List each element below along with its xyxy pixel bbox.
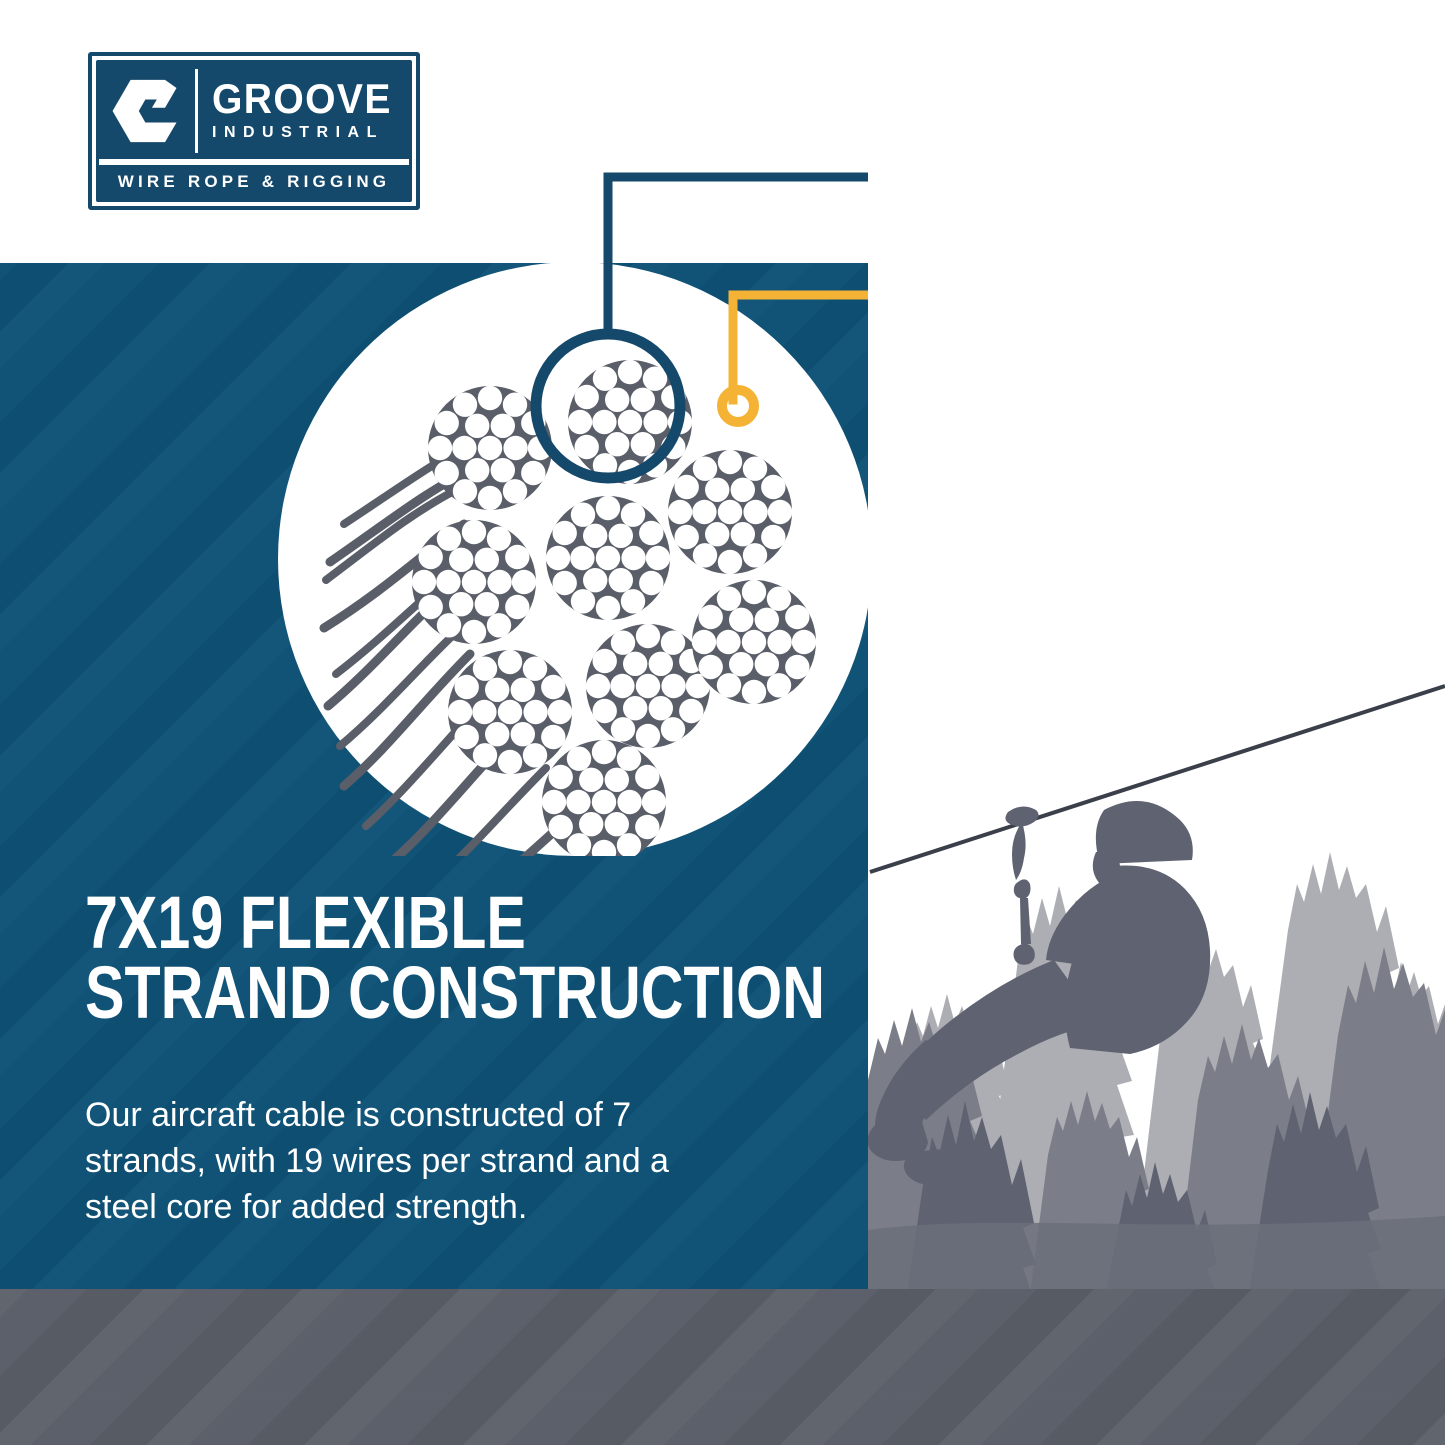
zipline-scene bbox=[868, 0, 1445, 1445]
wire-rope-illustration bbox=[278, 262, 872, 856]
groove-g-hexagon-icon bbox=[99, 63, 195, 159]
headline-line-1: 7X19 FLEXIBLE bbox=[85, 888, 693, 958]
logo-subbrand-text: INDUSTRIAL bbox=[212, 124, 409, 142]
bar-stripe-texture bbox=[0, 1289, 1445, 1445]
bottom-gray-bar bbox=[0, 1289, 1445, 1445]
logo-wordmark: GROOVE INDUSTRIAL bbox=[198, 80, 409, 142]
body-description: Our aircraft cable is constructed of 7 s… bbox=[85, 1092, 745, 1231]
logo-tagline-text: WIRE ROPE & RIGGING bbox=[118, 172, 390, 192]
brand-logo: GROOVE INDUSTRIAL WIRE ROPE & RIGGING bbox=[88, 52, 420, 210]
ground-haze bbox=[868, 1216, 1445, 1300]
page-title: 7X19 FLEXIBLE STRAND CONSTRUCTION bbox=[85, 888, 845, 1027]
logo-brand-text: GROOVE bbox=[212, 80, 395, 119]
logo-tagline-block: WIRE ROPE & RIGGING bbox=[99, 165, 409, 199]
headline-line-2: STRAND CONSTRUCTION bbox=[85, 958, 693, 1028]
infographic-canvas: GROOVE INDUSTRIAL WIRE ROPE & RIGGING bbox=[0, 0, 1445, 1445]
logo-top-block: GROOVE INDUSTRIAL bbox=[99, 63, 409, 159]
